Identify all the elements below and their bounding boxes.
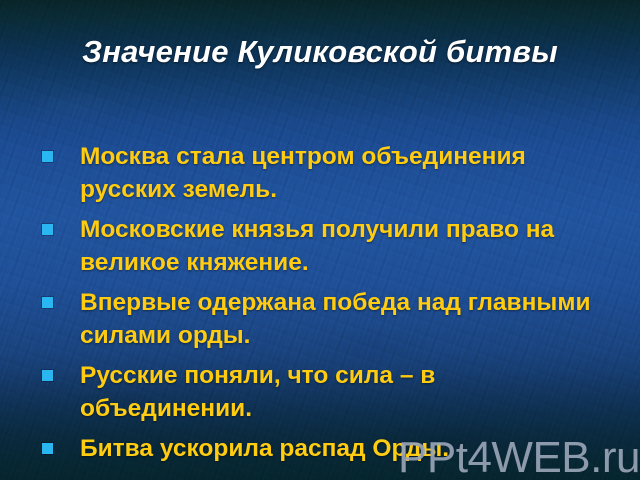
presentation-slide: Значение Куликовской битвы Москва стала … xyxy=(0,0,640,480)
list-item: Московские князья получили право на вели… xyxy=(36,213,610,279)
site-watermark: PPt4WEB.ru xyxy=(398,435,640,480)
bullet-list: Москва стала центром объединения русских… xyxy=(36,140,610,465)
list-item: Русские поняли, что сила – в объединении… xyxy=(36,359,610,425)
list-item-label: Московские князья получили право на вели… xyxy=(80,216,554,276)
list-item-label: Русские поняли, что сила – в объединении… xyxy=(80,362,435,422)
list-item: Москва стала центром объединения русских… xyxy=(36,140,610,206)
list-item-label: Битва ускорила распад Орды. xyxy=(80,435,449,462)
square-bullet-icon xyxy=(42,224,53,235)
square-bullet-icon xyxy=(42,443,53,454)
slide-title: Значение Куликовской битвы xyxy=(0,32,640,72)
square-bullet-icon xyxy=(42,151,53,162)
slide-content: Значение Куликовской битвы Москва стала … xyxy=(0,0,640,480)
list-item-label: Впервые одержана победа над главными сил… xyxy=(80,289,591,349)
square-bullet-icon xyxy=(42,370,53,381)
list-item: Впервые одержана победа над главными сил… xyxy=(36,286,610,352)
square-bullet-icon xyxy=(42,297,53,308)
list-item-label: Москва стала центром объединения русских… xyxy=(80,143,526,203)
